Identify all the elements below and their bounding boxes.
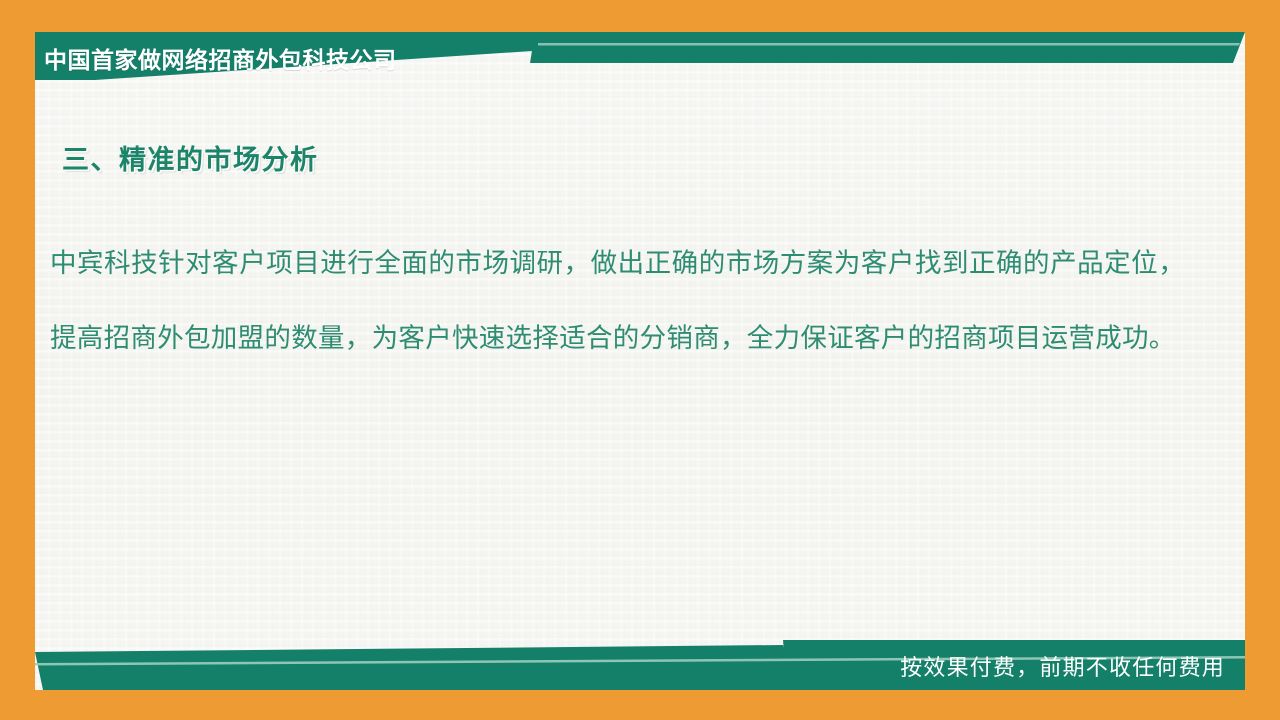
header-title: 中国首家做网络招商外包科技公司 — [44, 41, 397, 75]
presentation-slide: 中国首家做网络招商外包科技公司 三、精准的市场分析 中宾科技针对客户项目进行全面… — [0, 0, 1280, 720]
page-title: 三、精准的市场分析 — [62, 138, 319, 177]
footer-tagline: 按效果付费，前期不收任何费用 — [900, 650, 1225, 682]
body-paragraph: 中宾科技针对客户项目进行全面的市场调研，做出正确的市场方案为客户找到正确的产品定… — [50, 226, 1185, 376]
